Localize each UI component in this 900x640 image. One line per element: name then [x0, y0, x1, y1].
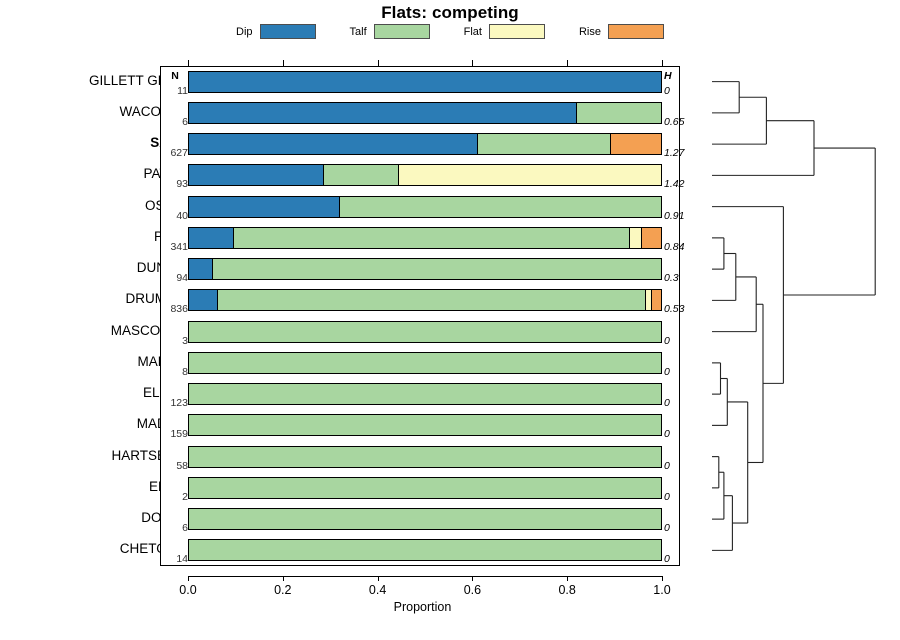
bar-segment-rise[interactable]	[652, 290, 661, 310]
h-value: 0	[664, 522, 698, 534]
bar-segment-talf[interactable]	[189, 447, 661, 467]
n-value: 341	[162, 241, 188, 253]
h-value: 0	[664, 460, 698, 472]
h-value: 0.3	[664, 272, 698, 284]
h-value: 0	[664, 335, 698, 347]
n-value: 627	[162, 147, 188, 159]
x-axis-tick-label: 0.6	[452, 583, 492, 597]
n-value: 40	[162, 210, 188, 222]
legend-swatch-rise	[608, 24, 664, 39]
n-value: 11	[162, 85, 188, 97]
x-axis-tick	[378, 576, 379, 581]
x-axis-tick-label: 0.8	[547, 583, 587, 597]
dendrogram-svg	[700, 66, 900, 566]
legend-item-talf[interactable]: Talf	[350, 24, 430, 39]
bar-row[interactable]	[188, 352, 662, 374]
n-value: 6	[162, 522, 188, 534]
bar-row[interactable]	[188, 477, 662, 499]
n-value: 94	[162, 272, 188, 284]
h-value: 0	[664, 85, 698, 97]
bar-segment-talf[interactable]	[218, 290, 646, 310]
x-axis-tick-label: 1.0	[642, 583, 682, 597]
x-axis-tick	[567, 576, 568, 581]
bar-row[interactable]	[188, 321, 662, 343]
n-value: 159	[162, 428, 188, 440]
h-value: 0	[664, 397, 698, 409]
n-value: 2	[162, 491, 188, 503]
bar-row[interactable]	[188, 414, 662, 436]
dendrogram	[700, 66, 900, 566]
bar-row[interactable]	[188, 196, 662, 218]
legend-item-rise[interactable]: Rise	[579, 24, 664, 39]
n-value: 6	[162, 116, 188, 128]
bar-segment-talf[interactable]	[189, 322, 661, 342]
legend-swatch-flat	[489, 24, 545, 39]
bar-segment-dip[interactable]	[189, 197, 340, 217]
h-value: 0	[664, 553, 698, 565]
n-value: 14	[162, 553, 188, 565]
bar-segment-talf[interactable]	[189, 478, 661, 498]
bar-segment-flat[interactable]	[630, 228, 642, 248]
x-axis-tick-label: 0.2	[263, 583, 303, 597]
h-value: 0	[664, 428, 698, 440]
top-tick	[188, 60, 189, 66]
legend: DipTalfFlatRise	[0, 24, 900, 39]
top-tick	[472, 60, 473, 66]
bar-row[interactable]	[188, 133, 662, 155]
x-axis-tick	[283, 576, 284, 581]
x-axis-tick-label: 0.0	[168, 583, 208, 597]
legend-label: Rise	[579, 26, 601, 38]
top-tick	[662, 60, 663, 66]
top-tick	[378, 60, 379, 66]
bar-row[interactable]	[188, 539, 662, 561]
n-column-header: N	[162, 70, 188, 82]
bar-segment-talf[interactable]	[189, 353, 661, 373]
bar-row[interactable]	[188, 102, 662, 124]
bar-row[interactable]	[188, 258, 662, 280]
bar-segment-talf[interactable]	[577, 103, 661, 123]
h-value: 1.27	[664, 147, 698, 159]
x-axis-tick-label: 0.4	[358, 583, 398, 597]
x-axis-tick	[662, 576, 663, 581]
h-value: 0	[664, 366, 698, 378]
bar-row[interactable]	[188, 446, 662, 468]
n-value: 8	[162, 366, 188, 378]
chart-title: Flats: competing	[0, 3, 900, 23]
bar-row[interactable]	[188, 227, 662, 249]
bar-row[interactable]	[188, 164, 662, 186]
bar-row[interactable]	[188, 289, 662, 311]
bar-row[interactable]	[188, 508, 662, 530]
legend-label: Talf	[350, 26, 367, 38]
h-value: 0.84	[664, 241, 698, 253]
h-value: 0	[664, 491, 698, 503]
h-column-header: H	[664, 70, 698, 82]
h-value: 0.91	[664, 210, 698, 222]
n-value: 58	[162, 460, 188, 472]
bar-segment-talf[interactable]	[234, 228, 630, 248]
bar-segment-talf[interactable]	[189, 384, 661, 404]
h-value: 0.53	[664, 303, 698, 315]
n-value: 123	[162, 397, 188, 409]
bar-segment-rise[interactable]	[611, 134, 661, 154]
bar-segment-dip[interactable]	[189, 259, 213, 279]
legend-item-dip[interactable]: Dip	[236, 24, 316, 39]
bar-segment-talf[interactable]	[324, 165, 400, 185]
legend-label: Dip	[236, 26, 253, 38]
bar-segment-dip[interactable]	[189, 228, 234, 248]
x-axis-line	[188, 576, 662, 577]
bar-segment-dip[interactable]	[189, 165, 324, 185]
x-axis-tick	[472, 576, 473, 581]
bar-segment-dip[interactable]	[189, 72, 661, 92]
x-axis-tick	[188, 576, 189, 581]
bar-segment-dip[interactable]	[189, 103, 577, 123]
x-axis-title: Proportion	[0, 600, 845, 614]
h-value: 1.42	[664, 178, 698, 190]
bar-segment-talf[interactable]	[340, 197, 661, 217]
legend-swatch-dip	[260, 24, 316, 39]
bar-segment-talf[interactable]	[189, 509, 661, 529]
bar-segment-dip[interactable]	[189, 134, 478, 154]
n-value: 836	[162, 303, 188, 315]
top-tick	[283, 60, 284, 66]
bar-segment-talf[interactable]	[478, 134, 612, 154]
bar-row[interactable]	[188, 383, 662, 405]
bar-row[interactable]	[188, 71, 662, 93]
h-value: 0.65	[664, 116, 698, 128]
chart-canvas: Flats: competing DipTalfFlatRise GILLETT…	[0, 0, 900, 640]
bar-segment-rise[interactable]	[642, 228, 661, 248]
bar-segment-talf[interactable]	[189, 415, 661, 435]
bar-segment-talf[interactable]	[189, 540, 661, 560]
legend-label: Flat	[464, 26, 482, 38]
n-value: 3	[162, 335, 188, 347]
n-value: 93	[162, 178, 188, 190]
legend-item-flat[interactable]: Flat	[464, 24, 545, 39]
bar-segment-dip[interactable]	[189, 290, 218, 310]
bar-segment-talf[interactable]	[213, 259, 661, 279]
legend-swatch-talf	[374, 24, 430, 39]
bar-segment-flat[interactable]	[399, 165, 661, 185]
top-tick	[567, 60, 568, 66]
